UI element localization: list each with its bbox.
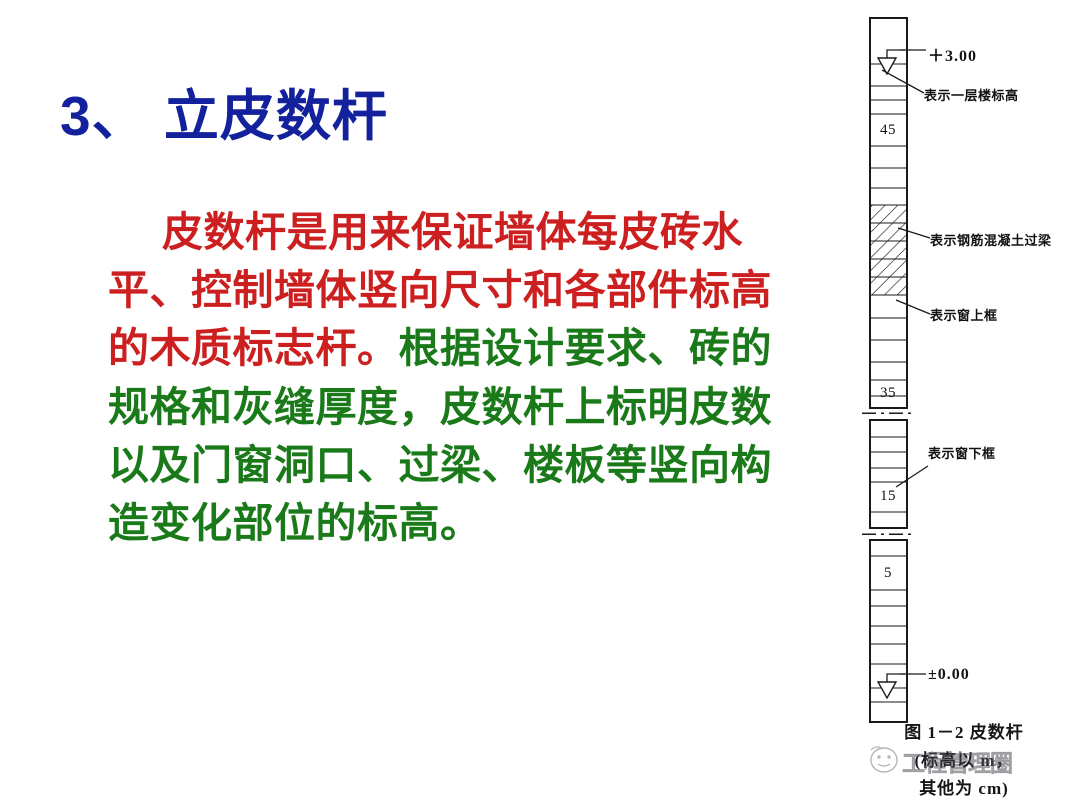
figure-drawing	[848, 0, 1080, 740]
segment-number-35: 35	[870, 385, 906, 402]
body-paragraph: 皮数杆是用来保证墙体每皮砖水平、控制墙体竖向尺寸和各部件标高的木质标志杆。根据设…	[108, 203, 788, 552]
figure-caption-line-2: (标高以 m，	[848, 746, 1080, 771]
page-title: 3、 立皮数杆	[60, 88, 388, 146]
annotation-lintel: 表示钢筋混凝土过梁	[930, 230, 1052, 249]
segment-number-45: 45	[870, 122, 906, 139]
slide-canvas: 3、 立皮数杆 皮数杆是用来保证墙体每皮砖水平、控制墙体竖向尺寸和各部件标高的木…	[0, 0, 1080, 810]
figure-caption-line-3: 其他为 cm)	[848, 774, 1080, 799]
figure-caption-line-1: 图 1－2 皮数杆	[848, 718, 1080, 743]
annotation-window-bottom: 表示窗下框	[928, 443, 996, 462]
segment-number-5: 5	[870, 565, 906, 582]
lintel-hatch-fill	[871, 205, 906, 295]
segment-number-15: 15	[870, 488, 906, 505]
annotation-floor-level: 表示一层楼标高	[924, 85, 1019, 104]
elevation-label-top: ＋3.00	[928, 42, 977, 66]
annotation-window-top: 表示窗上框	[930, 305, 998, 324]
figure-pole-diagram: 45 35 15 5 ＋3.00 ±0.00 表示一层楼标高 表示钢筋混凝土过梁…	[848, 0, 1080, 810]
elevation-label-bottom: ±0.00	[928, 666, 970, 684]
